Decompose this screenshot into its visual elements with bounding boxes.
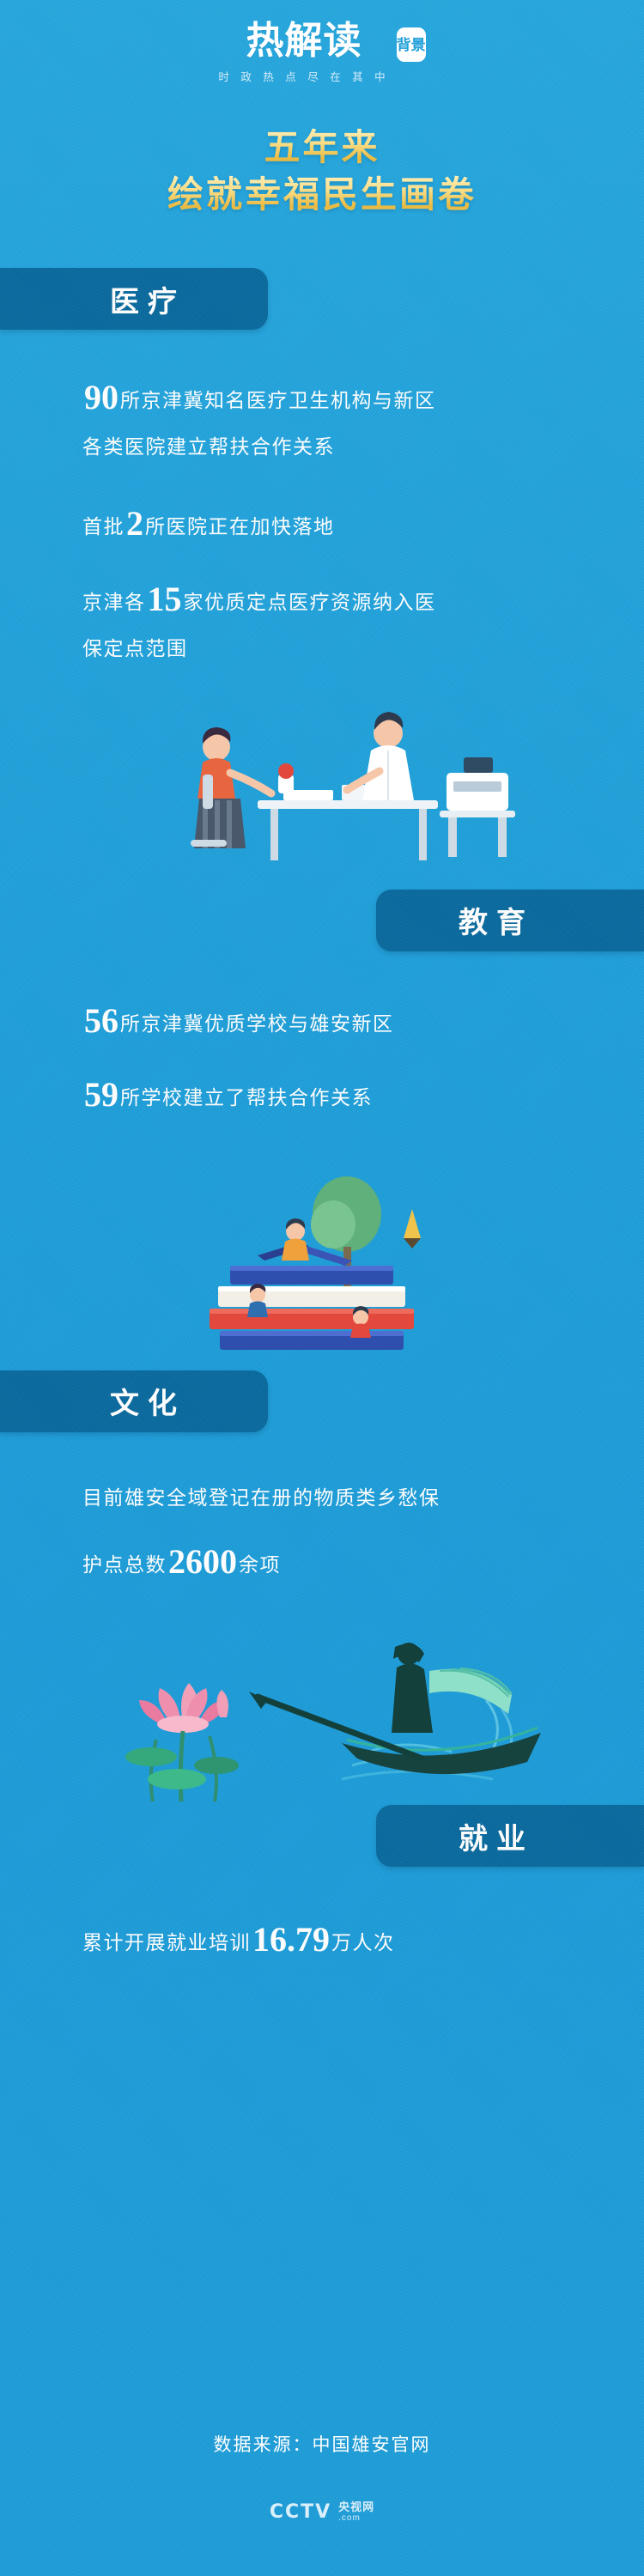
stat-line: 目前雄安全域登记在册的物质类乡愁保 <box>82 1480 582 1517</box>
stat-line: 56所京津冀优质学校与雄安新区 <box>82 989 582 1053</box>
section-pill-label: 医疗 <box>110 278 185 320</box>
stat-text: 万人次 <box>331 1932 395 1953</box>
stat-number: 90 <box>82 378 120 416</box>
stat-text: 保定点范围 <box>82 638 188 659</box>
stat-text: 各类医院建立帮扶合作关系 <box>82 436 335 458</box>
stat-line: 59所学校建立了帮扶合作关系 <box>82 1063 582 1127</box>
logo-row: 热解读 时 政 热 点 尽 在 其 中 背景 <box>0 22 644 84</box>
section-body-medical: 90所京津冀知名医疗卫生机构与新区 各类医院建立帮扶合作关系 首批2所医院正在加… <box>0 366 644 667</box>
spacer <box>82 556 582 568</box>
section-pill-employment[interactable]: 就业 <box>376 1805 644 1867</box>
footer: 数据来源：中国雄安官网 CCTV 央视网 .com <box>0 2431 644 2576</box>
illustration-stacked-books-students <box>0 1135 644 1358</box>
cctv-cn-line1: 央视网 <box>338 2501 374 2513</box>
stat-text: 目前雄安全域登记在册的物质类乡愁保 <box>82 1487 440 1509</box>
stat-line: 累计开展就业培训16.79万人次 <box>82 1908 582 1971</box>
title-line-1: 五年来 <box>0 125 644 169</box>
stat-number: 59 <box>82 1075 120 1114</box>
site-logo[interactable]: 热解读 <box>246 22 362 60</box>
spacer <box>82 466 582 492</box>
logo-block: 热解读 时 政 热 点 尽 在 其 中 <box>218 22 389 84</box>
logo-tagline: 时 政 热 点 尽 在 其 中 <box>218 68 389 84</box>
page-title: 五年来 绘就幸福民生画卷 <box>0 125 644 216</box>
stat-text: 所京津冀优质学校与雄安新区 <box>120 1013 394 1035</box>
section-pill-label: 文化 <box>110 1380 185 1422</box>
section-body-employment: 累计开展就业培训16.79万人次 <box>0 1908 644 1971</box>
stat-line: 保定点范围 <box>82 631 582 668</box>
stat-text: 家优质定点医疗资源纳入医 <box>184 592 436 613</box>
stat-number: 15 <box>146 580 184 618</box>
header: 热解读 时 政 热 点 尽 在 其 中 背景 <box>0 0 644 103</box>
section-pill-medical[interactable]: 医疗 <box>0 268 268 330</box>
title-line-2: 绘就幸福民生画卷 <box>0 173 644 216</box>
cctv-logo[interactable]: CCTV 央视网 .com <box>0 2501 644 2523</box>
cctv-chinese-name: 央视网 .com <box>338 2501 374 2523</box>
background-badge: 背景 <box>397 27 426 62</box>
stat-line: 护点总数2600余项 <box>82 1530 582 1594</box>
stat-line: 首批2所医院正在加快落地 <box>82 492 582 556</box>
section-body-education: 56所京津冀优质学校与雄安新区 59所学校建立了帮扶合作关系 <box>0 989 644 1127</box>
cctv-cn-line2: .com <box>338 2513 374 2523</box>
stat-prefix: 护点总数 <box>82 1554 167 1576</box>
data-source: 数据来源：中国雄安官网 <box>0 2431 644 2457</box>
illustration-lotus-boat-rower <box>0 1589 644 1803</box>
stat-prefix: 首批 <box>82 516 125 538</box>
spacer <box>82 1516 582 1530</box>
stat-line: 90所京津冀知名医疗卫生机构与新区 <box>82 366 582 429</box>
section-pill-label: 教育 <box>459 899 534 941</box>
section-pill-label: 就业 <box>459 1815 534 1857</box>
stat-text: 所京津冀知名医疗卫生机构与新区 <box>120 390 436 411</box>
section-body-culture: 目前雄安全域登记在册的物质类乡愁保 护点总数2600余项 <box>0 1480 644 1595</box>
illustration-doctor-consultation-desk <box>0 671 644 878</box>
stat-line: 各类医院建立帮扶合作关系 <box>82 429 582 466</box>
stat-text: 所医院正在加快落地 <box>145 516 335 538</box>
stat-number: 56 <box>82 1001 120 1040</box>
stat-text: 余项 <box>239 1554 281 1576</box>
spacer <box>82 1053 582 1063</box>
stat-prefix: 累计开展就业培训 <box>82 1932 251 1953</box>
stat-prefix: 京津各 <box>82 592 146 613</box>
stat-text: 所学校建立了帮扶合作关系 <box>120 1087 373 1109</box>
stat-line: 京津各15家优质定点医疗资源纳入医 <box>82 568 582 631</box>
section-pill-culture[interactable]: 文化 <box>0 1370 268 1432</box>
stat-number: 2 <box>125 504 145 543</box>
cctv-mark: CCTV <box>270 2501 331 2523</box>
section-pill-education[interactable]: 教育 <box>376 890 644 951</box>
stat-number: 2600 <box>167 1542 239 1581</box>
stat-number: 16.79 <box>251 1920 331 1959</box>
